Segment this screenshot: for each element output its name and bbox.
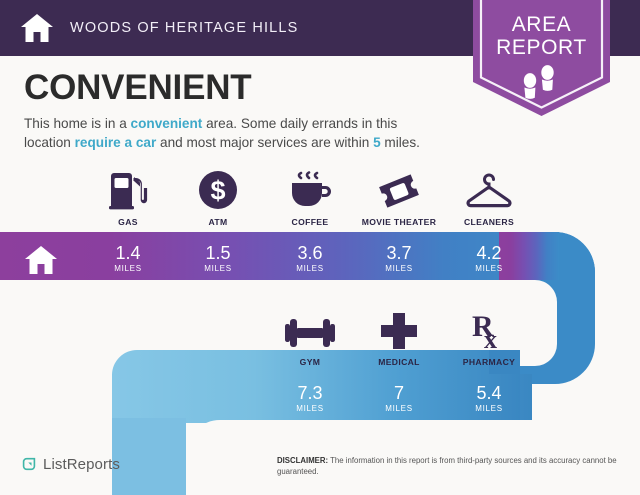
poi-label: ATM: [173, 217, 263, 227]
distance-value-atm: 1.5 MILES: [173, 243, 263, 273]
home-marker-icon: [24, 245, 58, 275]
hanger-icon: [444, 168, 534, 210]
poi-label: GYM: [265, 357, 355, 367]
disclaimer: DISCLAIMER: The information in this repo…: [277, 455, 622, 477]
infographic-page: WOODS OF HERITAGE HILLS AREA REPORT CONV…: [0, 0, 640, 495]
value-number: 1.5: [173, 243, 263, 263]
poi-icon-medical: MEDICAL: [354, 308, 444, 367]
value-unit: MILES: [444, 404, 534, 413]
value-number: 1.4: [83, 243, 173, 263]
row2-icon-group: GYM MEDICAL R x PHARMACY: [0, 308, 640, 372]
poi-icon-pharmacy: R x PHARMACY: [444, 308, 534, 367]
svg-text:x: x: [484, 325, 497, 350]
coffee-cup-icon: [265, 168, 355, 210]
subtitle-highlight-miles: 5: [373, 135, 381, 150]
distance-value-medical: 7 MILES: [354, 383, 444, 413]
poi-label: PHARMACY: [444, 357, 534, 367]
listreports-mark-icon: [20, 455, 38, 473]
poi-icon-cleaners: CLEANERS: [444, 168, 534, 227]
poi-label: MEDICAL: [354, 357, 444, 367]
subtitle-part-1: This home is in a: [24, 116, 131, 131]
poi-icon-coffee: COFFEE: [265, 168, 355, 227]
value-unit: MILES: [173, 264, 263, 273]
community-title: WOODS OF HERITAGE HILLS: [70, 20, 298, 36]
svg-text:$: $: [210, 176, 225, 206]
value-number: 5.4: [444, 383, 534, 403]
value-unit: MILES: [354, 404, 444, 413]
distance-value-gym: 7.3 MILES: [265, 383, 355, 413]
row1-icon-group: GAS $ ATM COFFEE: [0, 168, 640, 232]
subtitle-part-3: and most major services are within: [156, 135, 373, 150]
poi-icon-gas: GAS: [83, 168, 173, 227]
medical-cross-icon: [354, 308, 444, 350]
poi-label: COFFEE: [265, 217, 355, 227]
subtitle-highlight-convenient: convenient: [131, 116, 203, 131]
listreports-logo[interactable]: ListReports: [20, 455, 120, 473]
subtitle-part-4: miles.: [381, 135, 420, 150]
distance-value-coffee: 3.6 MILES: [265, 243, 355, 273]
value-number: 3.7: [354, 243, 444, 263]
disclaimer-text: The information in this report is from t…: [277, 456, 617, 476]
poi-icon-movie-theater: MOVIE THEATER: [354, 168, 444, 227]
disclaimer-label: DISCLAIMER:: [277, 456, 328, 465]
value-unit: MILES: [265, 404, 355, 413]
poi-icon-atm: $ ATM: [173, 168, 263, 227]
rx-icon: R x: [444, 308, 534, 350]
area-report-badge: AREA REPORT: [473, 0, 610, 116]
value-unit: MILES: [83, 264, 173, 273]
value-number: 7.3: [265, 383, 355, 403]
listreports-wordmark: ListReports: [43, 456, 120, 473]
poi-label: GAS: [83, 217, 173, 227]
value-unit: MILES: [265, 264, 355, 273]
distance-value-movie-theater: 3.7 MILES: [354, 243, 444, 273]
distance-value-cleaners: 4.2 MILES: [444, 243, 534, 273]
poi-label: MOVIE THEATER: [354, 217, 444, 227]
gas-pump-icon: [83, 168, 173, 210]
distance-value-gas: 1.4 MILES: [83, 243, 173, 273]
distance-value-pharmacy: 5.4 MILES: [444, 383, 534, 413]
poi-label: CLEANERS: [444, 217, 534, 227]
movie-ticket-icon: [354, 168, 444, 210]
value-unit: MILES: [354, 264, 444, 273]
page-subtitle: This home is in a convenient area. Some …: [24, 114, 444, 152]
value-unit: MILES: [444, 264, 534, 273]
value-number: 3.6: [265, 243, 355, 263]
dumbbell-icon: [265, 308, 355, 350]
value-number: 7: [354, 383, 444, 403]
home-icon: [20, 13, 54, 43]
dollar-circle-icon: $: [173, 168, 263, 210]
page-title: CONVENIENT: [24, 68, 251, 108]
subtitle-highlight-require-a-car: require a car: [75, 135, 157, 150]
poi-icon-gym: GYM: [265, 308, 355, 367]
value-number: 4.2: [444, 243, 534, 263]
